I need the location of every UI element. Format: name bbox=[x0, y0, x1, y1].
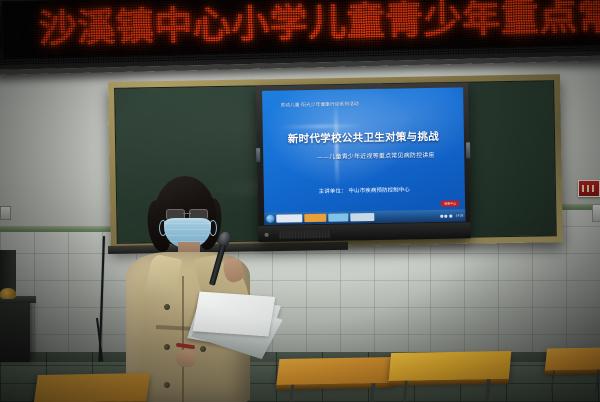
system-tray[interactable]: 14:26 bbox=[440, 213, 463, 217]
coat-seam bbox=[182, 276, 184, 402]
desk-legs bbox=[396, 379, 499, 402]
slide-corner-badge: 健康中山 bbox=[441, 201, 459, 207]
desk-legs bbox=[548, 370, 600, 393]
slide-organization: 主讲单位： 中山市疾病预防控制中心 bbox=[280, 187, 449, 197]
paper-sheet bbox=[193, 292, 276, 337]
classroom-photo-scene: 沙溪镇中心小学儿童青少年重点常见病防控讲座 灵动儿童·阳光少年健康行动系列活动 … bbox=[0, 0, 600, 402]
printed-papers bbox=[194, 292, 278, 354]
slide-eyebrow-text: 灵动儿童·阳光少年健康行动系列活动 bbox=[280, 101, 449, 110]
led-banner-text: 沙溪镇中心小学儿童青少年重点常见病防控讲座 bbox=[38, 0, 599, 56]
whiteboard-right-button[interactable] bbox=[466, 142, 470, 158]
red-notice-plate bbox=[578, 180, 600, 197]
coat-button bbox=[164, 344, 170, 350]
coat-button bbox=[164, 304, 170, 310]
eyeglasses-icon bbox=[165, 209, 209, 218]
light-switch[interactable] bbox=[0, 206, 11, 220]
desk-far-left bbox=[34, 373, 150, 402]
wall-junction-box bbox=[592, 204, 600, 222]
led-banner-frame: 沙溪镇中心小学儿童青少年重点常见病防控讲座 bbox=[0, 0, 600, 75]
slide-subtitle: ——儿童青少年近视等重点常见病防控讲座 bbox=[291, 152, 460, 163]
tray-icon[interactable] bbox=[445, 214, 448, 217]
presenter bbox=[120, 176, 290, 402]
desk-front-left bbox=[276, 357, 395, 385]
coat-button bbox=[164, 382, 170, 388]
podium bbox=[0, 300, 30, 362]
notice-plate-text-lines bbox=[582, 185, 596, 192]
desk-legs bbox=[283, 383, 383, 402]
slide-title: 新时代学校公共卫生对策与挑战 bbox=[273, 130, 454, 146]
tray-icon[interactable] bbox=[449, 214, 452, 217]
desk-front-center bbox=[389, 351, 512, 381]
desk-front-right bbox=[545, 347, 600, 370]
taskbar-item-document[interactable] bbox=[304, 214, 326, 222]
screen-glare-secondary bbox=[279, 124, 363, 128]
tray-icon[interactable] bbox=[440, 214, 443, 217]
taskbar-clock: 14:26 bbox=[454, 213, 464, 217]
taskbar-item-browser[interactable] bbox=[328, 213, 348, 221]
taskbar-item-media[interactable] bbox=[350, 213, 374, 221]
projector-screen[interactable]: 灵动儿童·阳光少年健康行动系列活动 新时代学校公共卫生对策与挑战 ——儿童青少年… bbox=[262, 87, 465, 224]
led-banner-face: 沙溪镇中心小学儿童青少年重点常见病防控讲座 bbox=[2, 0, 600, 59]
podium-flower bbox=[0, 288, 16, 299]
whiteboard-left-button[interactable] bbox=[256, 148, 260, 162]
